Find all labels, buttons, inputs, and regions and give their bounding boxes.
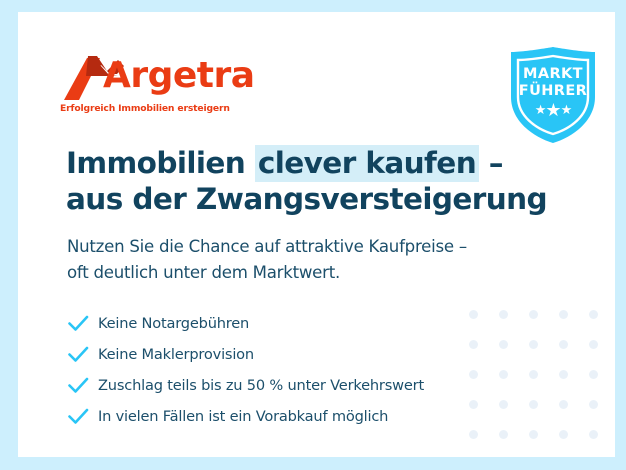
dot: [589, 340, 598, 349]
benefits-list: Keine Notargebühren Keine Maklerprovisio…: [68, 308, 548, 432]
logo-wordmark: Argetra: [103, 52, 255, 99]
dot: [589, 430, 598, 439]
dot: [589, 370, 598, 379]
dot: [559, 400, 568, 409]
dot: [559, 370, 568, 379]
headline-line-2: aus der Zwangsversteigerung: [66, 181, 536, 217]
check-icon: [68, 315, 98, 332]
argetra-logo[interactable]: Argetra Erfolgreich Immobilien ersteiger…: [60, 52, 250, 114]
logo-mark-row: Argetra: [60, 52, 250, 102]
list-item: In vielen Fällen ist ein Vorabkauf mögli…: [68, 401, 548, 432]
headline-suffix: –: [479, 146, 503, 180]
list-item: Zuschlag teils bis zu 50 % unter Verkehr…: [68, 370, 548, 401]
subtitle-line-2: oft deutlich unter dem Marktwert.: [67, 260, 537, 286]
page-subtitle: Nutzen Sie die Chance auf attraktive Kau…: [67, 234, 537, 286]
list-item-label: Keine Notargebühren: [98, 315, 249, 332]
list-item-label: Keine Maklerprovision: [98, 346, 254, 363]
headline-highlight: clever kaufen: [255, 145, 479, 182]
list-item-label: In vielen Fällen ist ein Vorabkauf mögli…: [98, 408, 388, 425]
check-icon: [68, 346, 98, 363]
headline-prefix: Immobilien: [66, 146, 255, 180]
dot: [589, 400, 598, 409]
market-leader-badge: MARKT FÜHRER ★★★: [505, 45, 601, 145]
logo-tagline: Erfolgreich Immobilien ersteigern: [60, 103, 250, 114]
page-title: Immobilien clever kaufen – aus der Zwang…: [66, 145, 536, 217]
headline-line-1: Immobilien clever kaufen –: [66, 145, 536, 181]
list-item-label: Zuschlag teils bis zu 50 % unter Verkehr…: [98, 377, 424, 394]
poster-canvas: Argetra Erfolgreich Immobilien ersteiger…: [18, 12, 615, 457]
dot: [559, 310, 568, 319]
shield-badge-icon: [505, 45, 601, 145]
check-icon: [68, 408, 98, 425]
check-icon: [68, 377, 98, 394]
list-item: Keine Maklerprovision: [68, 339, 548, 370]
list-item: Keine Notargebühren: [68, 308, 548, 339]
dot: [589, 310, 598, 319]
dot: [559, 430, 568, 439]
subtitle-line-1: Nutzen Sie die Chance auf attraktive Kau…: [67, 234, 537, 260]
promo-poster: Argetra Erfolgreich Immobilien ersteiger…: [0, 0, 626, 470]
dot: [559, 340, 568, 349]
